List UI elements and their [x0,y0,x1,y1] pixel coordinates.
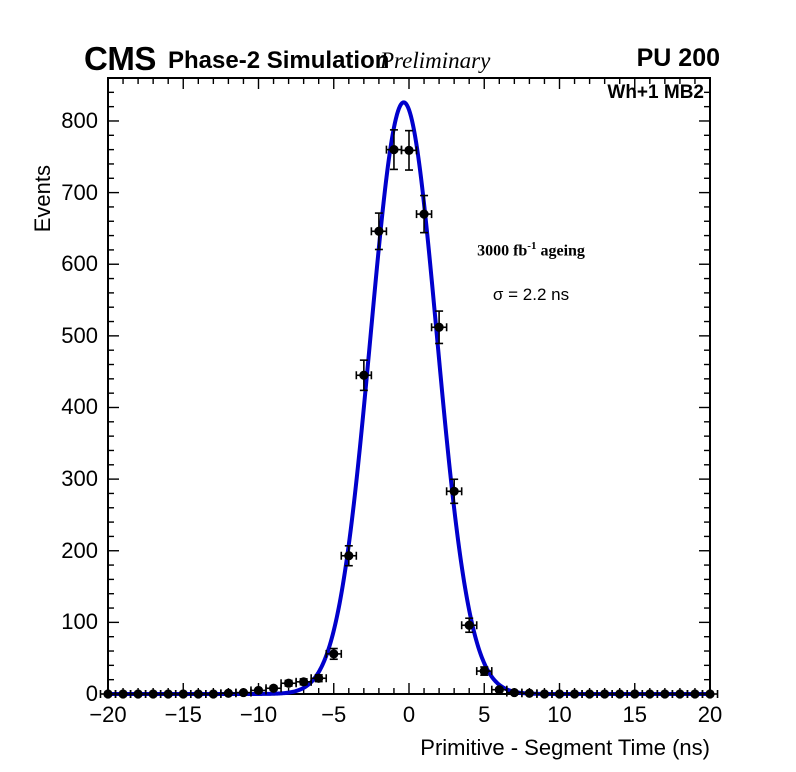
data-point [495,685,504,694]
data-point [570,689,579,698]
data-point [690,689,699,698]
data-point [645,689,654,698]
x-tick-label: −15 [165,702,202,728]
y-tick-label: 600 [61,251,98,277]
x-tick-label: −5 [321,702,346,728]
x-axis-title: Primitive - Segment Time (ns) [420,735,710,761]
data-point [254,686,263,695]
preliminary-label: Preliminary [380,48,490,74]
data-point [419,209,428,218]
y-tick-label: 700 [61,180,98,206]
data-point [194,689,203,698]
data-point [510,688,519,697]
data-point [555,689,564,698]
data-point [359,371,368,380]
cms-logo: CMS [84,40,156,78]
data-point [209,689,218,698]
data-point [329,649,338,658]
data-point [585,689,594,698]
y-axis-title-wrapper: Events [26,85,50,285]
data-point [103,689,112,698]
plot-canvas [0,0,796,772]
x-tick-label: 0 [403,702,415,728]
y-tick-label: 400 [61,394,98,420]
data-point [239,688,248,697]
data-point [630,689,639,698]
data-point [465,621,474,630]
y-tick-label: 300 [61,466,98,492]
data-point [600,689,609,698]
y-tick-label: 500 [61,323,98,349]
simulation-subtitle: Phase-2 Simulation [168,47,389,75]
data-point [179,689,188,698]
data-point [615,689,624,698]
y-tick-label: 100 [61,609,98,635]
data-point [705,689,714,698]
data-point [344,551,353,560]
data-point [118,689,127,698]
y-tick-label: 200 [61,538,98,564]
y-tick-label: 0 [86,681,98,707]
ageing-annotation: 3000 fb-1 ageing [477,240,585,260]
y-axis-title: Events [30,165,56,232]
data-point [299,677,308,686]
data-point [389,145,398,154]
x-tick-label: 15 [623,702,647,728]
x-tick-label: 10 [547,702,571,728]
data-point [675,689,684,698]
data-point [314,674,323,683]
data-point [164,689,173,698]
data-point [224,689,233,698]
ageing-value: 3000 fb [477,242,527,259]
data-point [374,227,383,236]
data-point [660,689,669,698]
data-point [480,666,489,675]
x-tick-label: −10 [240,702,277,728]
y-tick-label: 800 [61,108,98,134]
sigma-annotation: σ = 2.2 ns [493,285,569,305]
data-point [149,689,158,698]
x-tick-label: 20 [698,702,722,728]
data-point [269,684,278,693]
pileup-label: PU 200 [637,44,720,73]
wheel-station-label: Wh+1 MB2 [607,82,704,104]
ageing-suffix: ageing [536,242,584,259]
data-point [450,487,459,496]
data-point [134,689,143,698]
data-point [284,679,293,688]
data-point [540,689,549,698]
x-tick-label: 5 [478,702,490,728]
data-point [525,689,534,698]
data-point [404,146,413,155]
data-point [435,323,444,332]
